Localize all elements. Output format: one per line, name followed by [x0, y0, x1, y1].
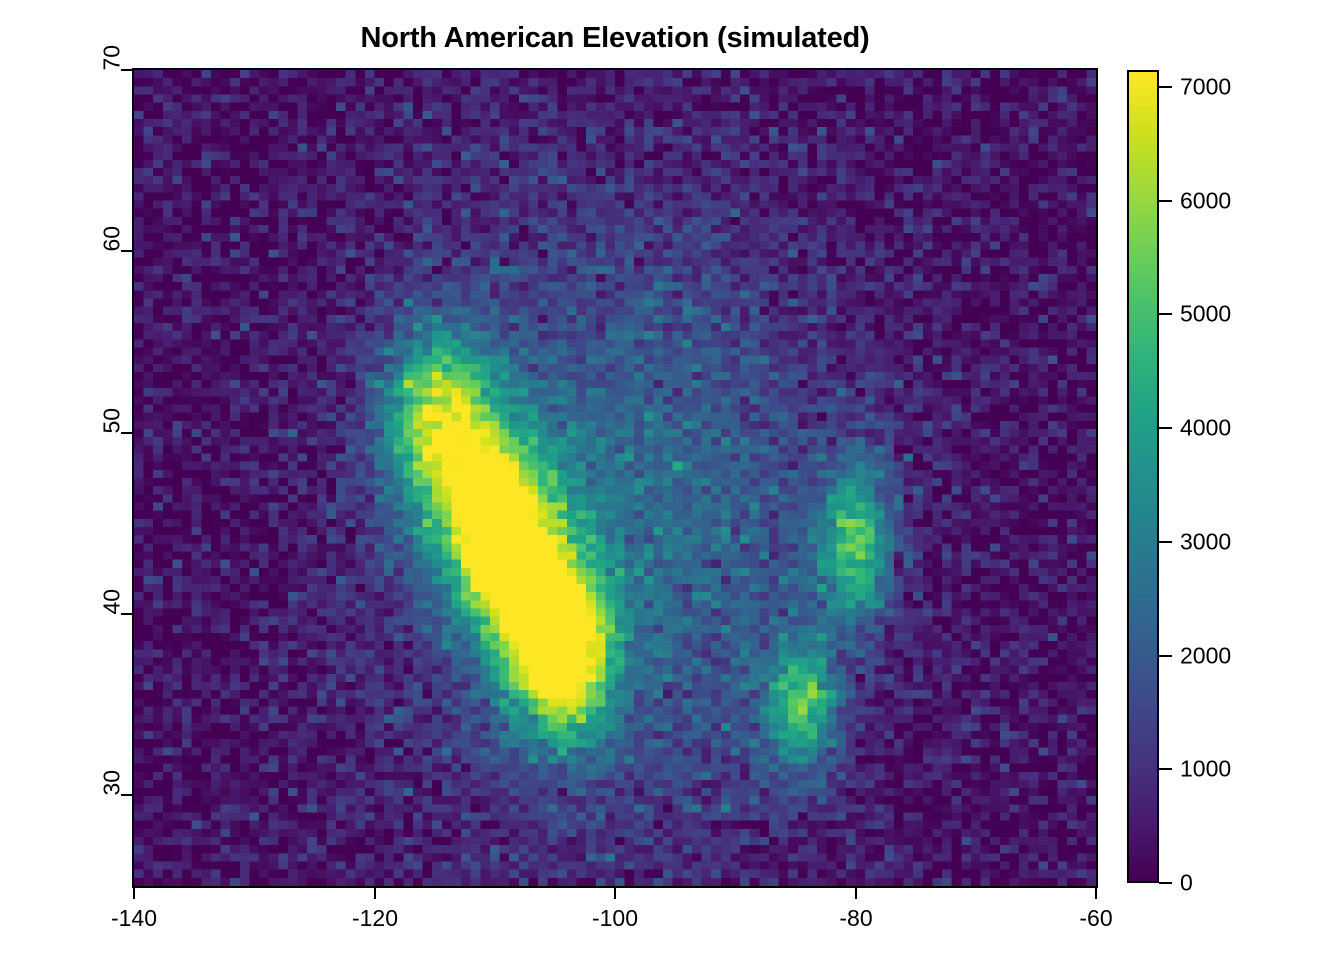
- x-tick-label: -140: [111, 905, 157, 932]
- colorbar-tick-label: 6000: [1180, 188, 1231, 215]
- heatmap-plot-area: [132, 68, 1098, 888]
- colorbar-tick-label: 4000: [1180, 415, 1231, 442]
- x-tick-mark: [1095, 888, 1097, 899]
- colorbar-tick-mark: [1159, 541, 1172, 543]
- x-tick-label: -120: [352, 905, 398, 932]
- colorbar-tick-mark: [1159, 86, 1172, 88]
- colorbar-tick-mark: [1159, 313, 1172, 315]
- colorbar-tick-mark: [1159, 655, 1172, 657]
- colorbar-tick-label: 5000: [1180, 301, 1231, 328]
- colorbar-tick-label: 3000: [1180, 529, 1231, 556]
- x-tick-mark: [614, 888, 616, 899]
- x-tick-mark: [133, 888, 135, 899]
- colorbar-tick-mark: [1159, 768, 1172, 770]
- colorbar-tick-label: 2000: [1180, 643, 1231, 670]
- heatmap-raster: [134, 70, 1096, 886]
- colorbar-gradient: [1129, 72, 1157, 881]
- x-tick-mark: [374, 888, 376, 899]
- page-title: North American Elevation (simulated): [132, 22, 1098, 55]
- x-tick-label: -80: [839, 905, 872, 932]
- colorbar-tick-mark: [1159, 427, 1172, 429]
- colorbar-tick-mark: [1159, 200, 1172, 202]
- x-tick-mark: [855, 888, 857, 899]
- colorbar-tick-label: 0: [1180, 870, 1193, 897]
- colorbar-tick-label: 7000: [1180, 74, 1231, 101]
- colorbar: [1127, 70, 1159, 883]
- colorbar-tick-mark: [1159, 882, 1172, 884]
- figure-root: North American Elevation (simulated) -14…: [0, 0, 1344, 960]
- x-tick-label: -60: [1079, 905, 1112, 932]
- colorbar-tick-label: 1000: [1180, 756, 1231, 783]
- x-tick-label: -100: [592, 905, 638, 932]
